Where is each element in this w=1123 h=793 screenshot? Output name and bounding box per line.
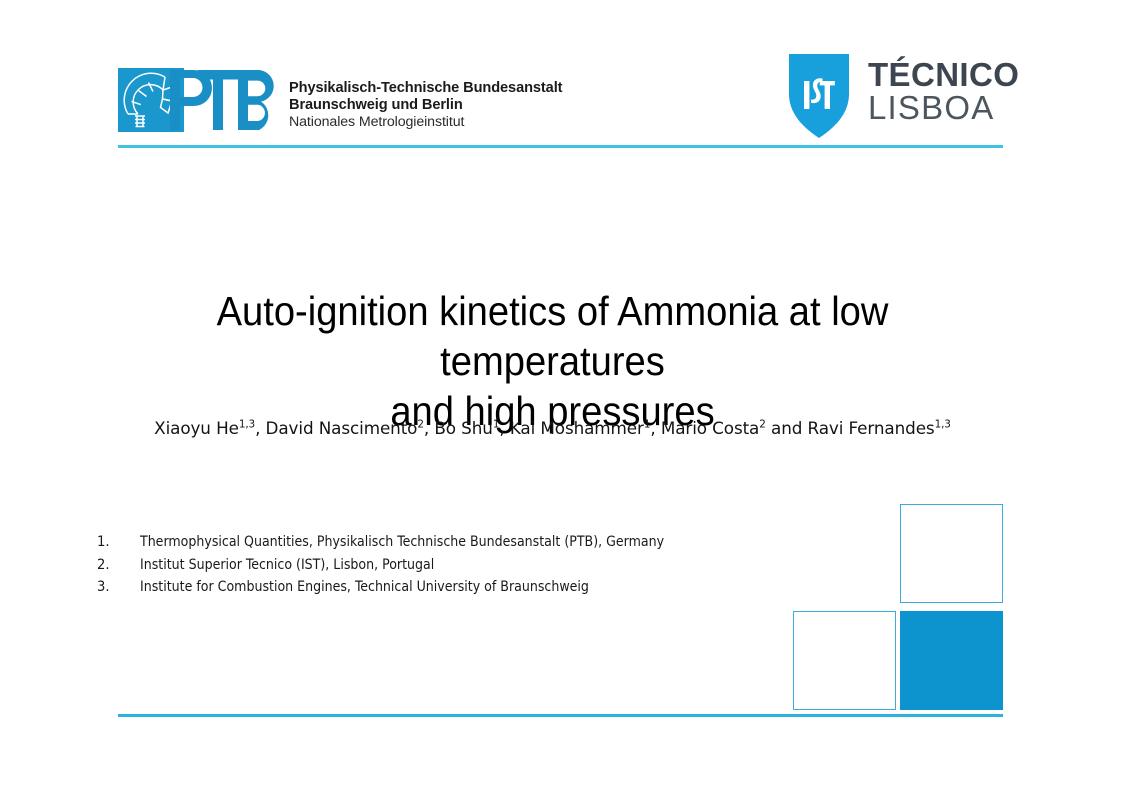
author-affiliation-marker: 1 <box>644 418 651 430</box>
ptb-letters <box>168 68 280 132</box>
ptb-logo: Physikalisch-Technische Bundesanstalt Br… <box>118 68 562 140</box>
tecnico-lisboa-logo: TÉCNICO LISBOA <box>788 53 1019 141</box>
affiliation-number: 1. <box>97 533 140 550</box>
author-name: Ravi Fernandes <box>808 418 935 438</box>
author-name: Kai Moshammer <box>510 418 644 438</box>
author-name: David Nascimento <box>266 418 418 438</box>
author-affiliation-marker: 1 <box>493 418 500 430</box>
author-affiliation-marker: 2 <box>759 418 766 430</box>
affiliation-text: Institut Superior Tecnico (IST), Lisbon,… <box>140 556 771 573</box>
logo-band: Physikalisch-Technische Bundesanstalt Br… <box>0 0 1123 150</box>
affiliation-number: 2. <box>97 556 140 573</box>
header-divider <box>118 145 1003 148</box>
lisboa-label: LISBOA <box>868 91 1019 125</box>
affiliation-number: 3. <box>97 578 140 595</box>
author-affiliation-marker: 1,3 <box>239 418 255 430</box>
author-name: Xiaoyu He <box>154 418 239 438</box>
ptb-wordmark-line-1: Physikalisch-Technische Bundesanstalt <box>289 80 562 97</box>
affiliation-item: 1. Thermophysical Quantities, Physikalis… <box>97 533 797 556</box>
page-title: Auto-ignition kinetics of Ammonia at low… <box>127 286 978 436</box>
affiliation-item: 2. Institut Superior Tecnico (IST), Lisb… <box>97 556 797 579</box>
footer-divider <box>118 714 1003 717</box>
decorative-square-top-right <box>900 504 1003 603</box>
affiliation-text: Institute for Combustion Engines, Techni… <box>140 578 771 595</box>
decorative-square-bottom-left <box>793 611 896 710</box>
ist-shield-icon <box>788 53 850 139</box>
ptb-wordmark-line-3: Nationales Metrologieinstitut <box>289 114 562 131</box>
affiliations-list: 1. Thermophysical Quantities, Physikalis… <box>97 533 797 601</box>
tecnico-wordmark: TÉCNICO LISBOA <box>868 53 1019 125</box>
affiliation-item: 3. Institute for Combustion Engines, Tec… <box>97 578 797 601</box>
title-slide: Physikalisch-Technische Bundesanstalt Br… <box>0 0 1123 793</box>
ptb-wordmark: Physikalisch-Technische Bundesanstalt Br… <box>289 68 562 131</box>
affiliation-text: Thermophysical Quantities, Physikalisch … <box>140 533 771 550</box>
author-name: Bo Shu <box>434 418 492 438</box>
author-affiliation-marker: 2 <box>417 418 424 430</box>
tecnico-label: TÉCNICO <box>868 59 1019 91</box>
author-affiliation-marker: 1,3 <box>935 418 951 430</box>
author-name: Mario Costa <box>661 418 759 438</box>
decorative-square-bottom-right <box>900 611 1003 710</box>
ptb-wordmark-line-2: Braunschweig und Berlin <box>289 97 562 114</box>
authors-line: Xiaoyu He1,3, David Nascimento2, Bo Shu1… <box>100 418 1005 440</box>
title-line-1: Auto-ignition kinetics of Ammonia at low… <box>127 286 978 386</box>
